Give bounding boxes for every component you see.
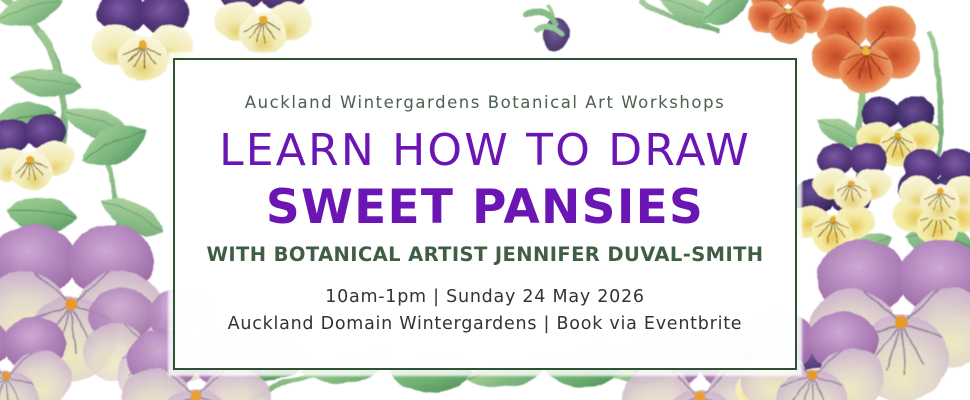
workshop-series-label: Auckland Wintergardens Botanical Art Wor… <box>245 93 726 112</box>
artist-byline: WITH BOTANICAL ARTIST JENNIFER DUVAL-SMI… <box>206 245 763 265</box>
headline-line-2: SWEET PANSIES <box>266 184 704 231</box>
event-time-date: 10am-1pm | Sunday 24 May 2026 <box>325 287 645 307</box>
headline-line-1: LEARN HOW TO DRAW <box>219 129 751 173</box>
pansy-left-edge-lavender <box>0 317 72 400</box>
event-banner: Auckland Wintergardens Botanical Art Wor… <box>0 0 970 400</box>
event-venue-booking: Auckland Domain Wintergardens | Book via… <box>228 314 743 334</box>
content-frame: Auckland Wintergardens Botanical Art Wor… <box>173 58 797 370</box>
